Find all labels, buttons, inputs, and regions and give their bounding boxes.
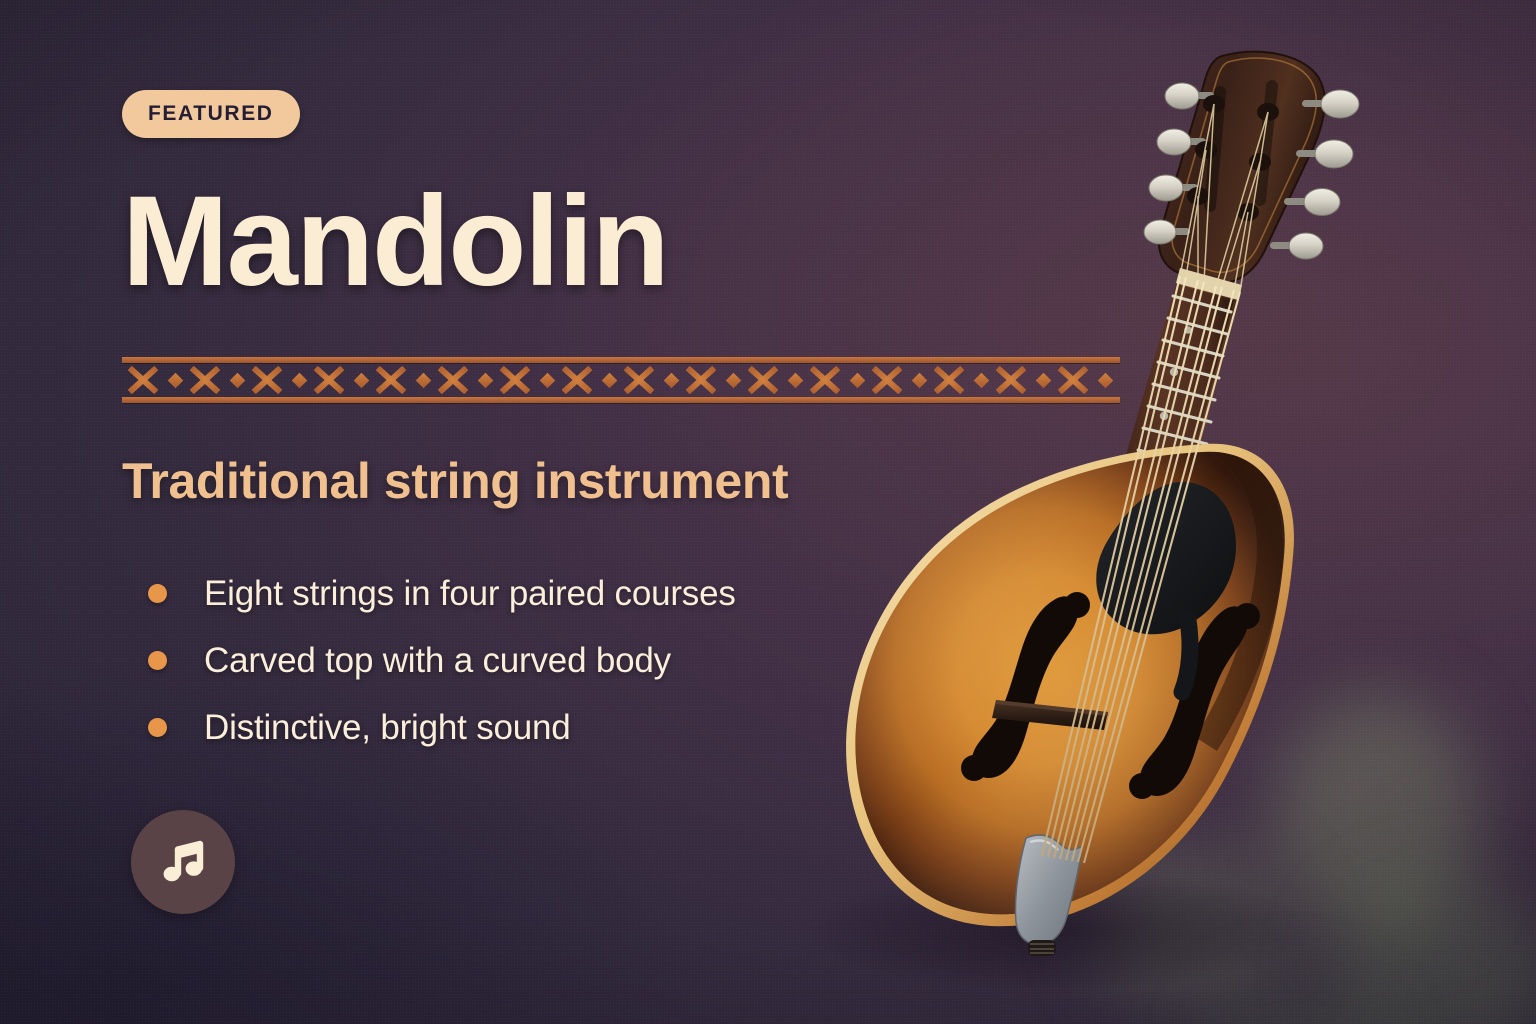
feature-item: Eight strings in four paired courses <box>122 560 882 627</box>
divider-diamond-motif <box>478 366 492 394</box>
feature-item-label: Distinctive, bright sound <box>204 708 571 748</box>
divider-diamond-motif <box>292 366 306 394</box>
divider-x-motif <box>376 366 406 394</box>
divider-x-motif <box>562 366 592 394</box>
mandolin-illustration <box>790 0 1536 1024</box>
divider-diamond-motif <box>230 366 244 394</box>
featured-badge-label: FEATURED <box>148 102 274 126</box>
divider-x-motif <box>438 366 468 394</box>
divider-diamond-motif <box>416 366 430 394</box>
divider-diamond-motif <box>540 366 554 394</box>
poster-canvas: FEATURED Mandolin Traditional string ins… <box>0 0 1536 1024</box>
body <box>846 440 1294 956</box>
divider-x-motif <box>624 366 654 394</box>
page-subtitle: Traditional string instrument <box>122 452 788 510</box>
feature-list: Eight strings in four paired coursesCarv… <box>122 560 882 761</box>
divider-x-motif <box>314 366 344 394</box>
divider-diamond-motif <box>726 366 740 394</box>
feature-item: Distinctive, bright sound <box>122 694 882 761</box>
music-note-button[interactable] <box>131 810 235 914</box>
music-note-icon <box>154 833 212 891</box>
content-column: FEATURED Mandolin Traditional string ins… <box>0 0 900 1024</box>
divider-x-motif <box>190 366 220 394</box>
divider-x-motif <box>128 366 158 394</box>
feature-item-label: Eight strings in four paired courses <box>204 574 736 614</box>
feature-item-label: Carved top with a curved body <box>204 641 671 681</box>
divider-x-motif <box>748 366 778 394</box>
tuning-peg <box>1270 233 1323 259</box>
featured-badge: FEATURED <box>122 90 300 138</box>
divider-diamond-motif <box>354 366 368 394</box>
feature-item: Carved top with a curved body <box>122 627 882 694</box>
divider-x-motif <box>252 366 282 394</box>
bullet-dot-icon <box>148 651 167 670</box>
page-title: Mandolin <box>122 178 668 306</box>
divider-diamond-motif <box>664 366 678 394</box>
divider-diamond-motif <box>168 366 182 394</box>
endpin <box>1028 940 1056 956</box>
bullet-dot-icon <box>148 584 167 603</box>
divider-x-motif <box>686 366 716 394</box>
divider-diamond-motif <box>602 366 616 394</box>
bullet-dot-icon <box>148 718 167 737</box>
divider-x-motif <box>500 366 530 394</box>
